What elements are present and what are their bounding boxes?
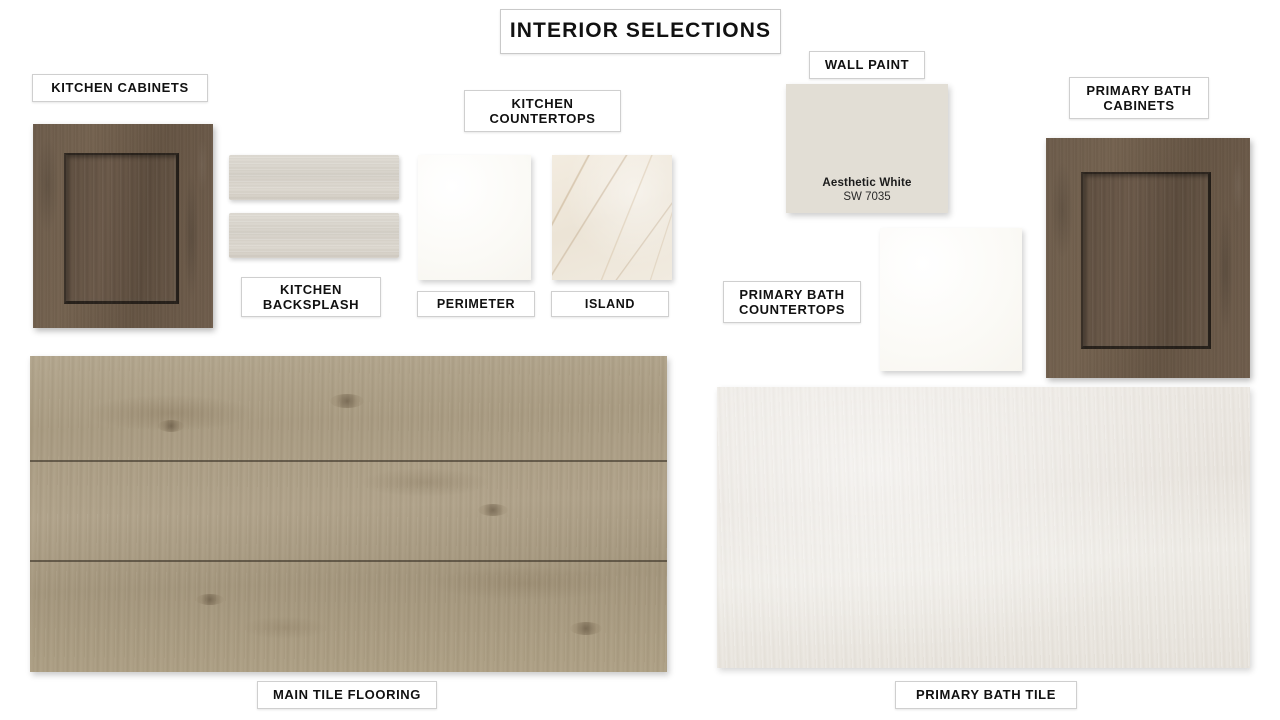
label-main-tile-flooring: MAIN TILE FLOORING xyxy=(257,681,437,709)
wood-knot xyxy=(330,394,364,408)
swatch-countertop-island[interactable] xyxy=(552,155,672,280)
cabinet-recessed-panel xyxy=(1081,172,1212,350)
swatch-primary-bath-cabinets[interactable] xyxy=(1046,138,1250,378)
swatch-main-tile-flooring[interactable] xyxy=(30,356,667,672)
wood-knot xyxy=(478,504,508,516)
paint-color-name: Aesthetic White xyxy=(822,177,911,189)
swatch-countertop-perimeter[interactable] xyxy=(418,155,531,280)
interior-selections-board: INTERIOR SELECTIONS KITCHEN CABINETS KIT… xyxy=(0,0,1280,720)
swatch-kitchen-backsplash-tile-2[interactable] xyxy=(229,213,399,258)
label-perimeter: PERIMETER xyxy=(417,291,535,317)
label-island: ISLAND xyxy=(551,291,669,317)
wood-knot xyxy=(196,594,224,605)
plank-seam xyxy=(30,460,667,462)
label-kitchen-countertops: KITCHEN COUNTERTOPS xyxy=(464,90,621,132)
label-primary-bath-countertops: PRIMARY BATH COUNTERTOPS xyxy=(723,281,861,323)
swatch-kitchen-backsplash-tile-1[interactable] xyxy=(229,155,399,200)
label-kitchen-backsplash: KITCHEN BACKSPLASH xyxy=(241,277,381,317)
cabinet-recessed-panel xyxy=(64,153,179,304)
label-wall-paint: WALL PAINT xyxy=(809,51,925,79)
swatch-wall-paint-chip[interactable]: Aesthetic White SW 7035 xyxy=(786,84,948,213)
swatch-primary-bath-tile[interactable] xyxy=(717,387,1250,668)
swatch-kitchen-cabinets[interactable] xyxy=(33,124,213,328)
board-title: INTERIOR SELECTIONS xyxy=(500,9,781,54)
swatch-primary-bath-countertop[interactable] xyxy=(880,228,1022,371)
label-kitchen-cabinets: KITCHEN CABINETS xyxy=(32,74,208,102)
wood-knot xyxy=(570,622,602,635)
wood-knot xyxy=(158,420,184,432)
paint-color-code: SW 7035 xyxy=(843,191,890,203)
plank-seam xyxy=(30,560,667,562)
label-primary-bath-cabinets: PRIMARY BATH CABINETS xyxy=(1069,77,1209,119)
label-primary-bath-tile: PRIMARY BATH TILE xyxy=(895,681,1077,709)
